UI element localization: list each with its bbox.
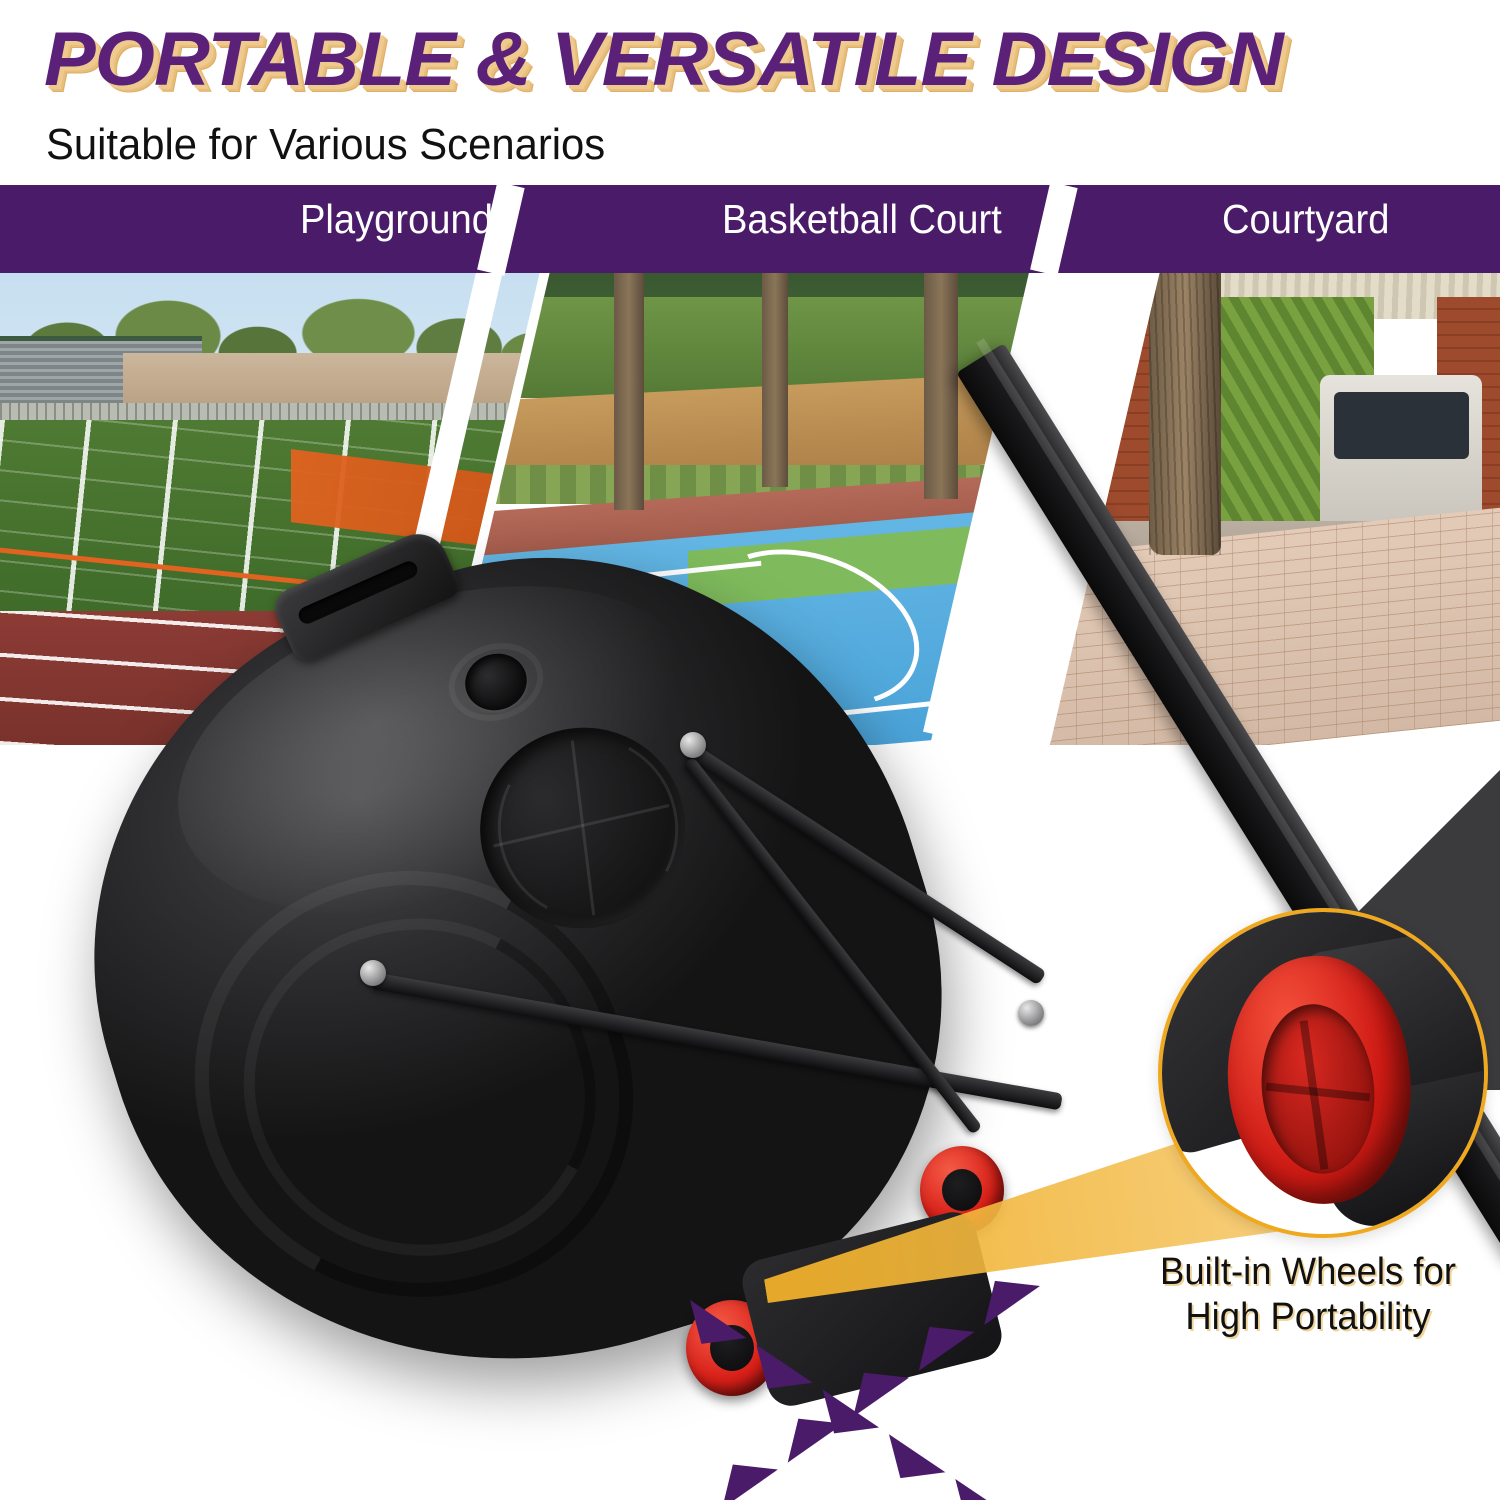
bolt-lower: [360, 960, 386, 986]
bolt-mid: [1018, 1000, 1044, 1026]
product-hoop-base: [80, 540, 1080, 1440]
bolt-upper: [680, 732, 706, 758]
page-title: PORTABLE & VERSATILE DESIGN: [44, 22, 1283, 98]
banner-label-playground: Playground: [300, 196, 493, 243]
banner-label-basketball-court: Basketball Court: [722, 196, 1002, 243]
marketing-image: Playground Basketball Court Courtyard: [0, 0, 1500, 1500]
callout-zoom-circle: [1158, 908, 1488, 1238]
header: PORTABLE & VERSATILE DESIGN Suitable for…: [0, 0, 1500, 185]
page-subtitle: Suitable for Various Scenarios: [46, 120, 605, 170]
callout-text-line2: High Portability: [1126, 1295, 1491, 1340]
callout-text-line1: Built-in Wheels for: [1126, 1250, 1491, 1295]
banner-label-courtyard: Courtyard: [1222, 196, 1389, 243]
callout-text: Built-in Wheels for High Portability: [1126, 1250, 1491, 1340]
